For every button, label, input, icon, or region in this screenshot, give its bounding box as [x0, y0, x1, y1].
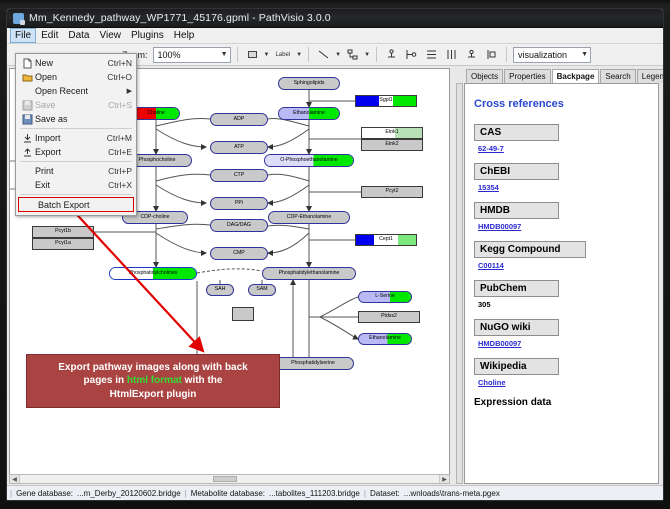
gene-cept1[interactable]: Cept1 [355, 234, 417, 246]
xref-link-hmdb[interactable]: HMDB00097 [478, 222, 521, 231]
stack-icon [486, 49, 497, 60]
stack-button[interactable] [483, 46, 500, 63]
save-as-icon [20, 114, 35, 125]
node-unlabeled-block[interactable] [232, 307, 254, 321]
xref-header-pubchem: PubChem [474, 280, 559, 297]
file-menu-import[interactable]: Import Ctrl+M [16, 131, 136, 145]
menu-help[interactable]: Help [169, 28, 200, 43]
scroll-left-icon[interactable]: ◀ [10, 475, 20, 483]
file-menu-exit-label: Exit [35, 180, 102, 190]
callout-line-2a: pages in [84, 375, 127, 386]
gene-etnk1[interactable]: Etnk1 [361, 127, 423, 139]
xref-header-chebi: ChEBI [474, 163, 559, 180]
expression-data-heading: Expression data [474, 397, 649, 408]
chevron-down-icon: ▼ [221, 51, 228, 58]
xref-value-chebi: 15354 [474, 183, 649, 192]
shape-caret-icon[interactable]: ▼ [264, 52, 270, 58]
node-sphingolipids[interactable]: Sphingolipids [278, 77, 340, 90]
file-menu-separator-2 [20, 161, 132, 162]
node-cmp[interactable]: CMP [210, 247, 268, 260]
node-ethanolamine-2[interactable]: Ethanolamine [358, 333, 412, 345]
export-icon [20, 147, 35, 158]
group-icon [466, 49, 477, 60]
xref-header-nugo: NuGO wiki [474, 319, 559, 336]
interaction-tool-button[interactable] [344, 46, 361, 63]
gene-pcyt1b[interactable]: Pcyt1b [32, 226, 94, 238]
status-divider-1: | [185, 489, 187, 498]
file-menu-open[interactable]: Open Ctrl+O [16, 70, 136, 84]
node-label: Ptdss2 [381, 314, 397, 319]
file-menu-export[interactable]: Export Ctrl+E [16, 145, 136, 159]
node-label: Pcyt1a [55, 241, 71, 246]
xref-link-wikipedia[interactable]: Choline [478, 378, 506, 387]
zoom-value: 100% [158, 50, 181, 60]
status-metabolite-db-value: ...tabolites_111203.bridge [269, 489, 360, 498]
node-label: SAM [256, 287, 267, 292]
gene-sgpl1[interactable]: Sgpl1 [355, 95, 417, 107]
submenu-arrow-icon: ▶ [127, 87, 132, 95]
callout-highlight: html format [127, 375, 182, 386]
file-menu-import-accel: Ctrl+M [107, 133, 132, 143]
import-icon [20, 133, 35, 144]
node-label: Ethanolamine [293, 111, 325, 116]
xref-value-cas: 62-49-7 [474, 144, 649, 153]
node-label: CTP [234, 173, 244, 178]
node-label: Cept1 [379, 237, 393, 242]
node-label: Phosphatidylcholines [129, 271, 178, 276]
node-cdp-ethanolamine[interactable]: CDP-Ethanolamine [268, 211, 350, 224]
folder-open-icon [20, 72, 35, 83]
align-left-icon [406, 49, 417, 60]
interaction-caret-icon[interactable]: ▼ [364, 52, 370, 58]
file-menu-export-accel: Ctrl+E [108, 147, 132, 157]
node-label: Phosphatidylserine [291, 361, 335, 366]
node-l-serine[interactable]: L-Serine [358, 291, 412, 303]
save-icon [20, 100, 35, 111]
callout-line-2b: with the [182, 375, 223, 386]
status-metabolite-db-label: Metabolite database: [191, 489, 265, 498]
xref-value-hmdb: HMDB00097 [474, 222, 649, 231]
node-label: Etnk2 [385, 142, 398, 147]
file-menu-separator-3 [20, 194, 132, 195]
menu-data[interactable]: Data [63, 28, 94, 43]
node-sah[interactable]: SAH [206, 284, 234, 296]
file-menu-new-accel: Ctrl+N [108, 58, 132, 68]
xref-link-cas[interactable]: 62-49-7 [478, 144, 504, 153]
file-menu-exit[interactable]: Exit Ctrl+X [16, 178, 136, 192]
new-file-icon [20, 58, 35, 69]
window-title: Mm_Kennedy_pathway_WP1771_45176.gpml - P… [29, 12, 331, 24]
application-window: Mm_Kennedy_pathway_WP1771_45176.gpml - P… [6, 8, 664, 501]
file-menu-new-label: New [35, 58, 102, 68]
status-divider-0: | [10, 489, 12, 498]
node-label: Pcyt1b [55, 229, 71, 234]
node-label: Ethanolamine [369, 336, 401, 341]
file-menu-open-recent-label: Open Recent [35, 86, 127, 96]
tab-backpage[interactable]: Backpage [552, 69, 600, 84]
file-menu-separator-1 [20, 128, 132, 129]
node-ethanolamine[interactable]: Ethanolamine [278, 107, 340, 120]
file-menu-print-label: Print [35, 166, 102, 176]
callout-line-3: HtmlExport plugin [110, 388, 197, 401]
node-label: Phosphocholine [139, 158, 176, 163]
xref-header-hmdb: HMDB [474, 202, 559, 219]
toolbar-separator-3 [376, 47, 377, 62]
file-menu-import-label: Import [35, 133, 101, 143]
file-menu-save: Save Ctrl+S [16, 98, 136, 112]
line-icon [318, 49, 329, 60]
line-tool-button[interactable] [315, 46, 332, 63]
xref-value-wikipedia: Choline [474, 378, 649, 387]
xref-link-kegg[interactable]: C00114 [478, 261, 504, 270]
node-ctp[interactable]: CTP [210, 169, 268, 182]
menu-bar: File Edit Data View Plugins Help [7, 28, 663, 44]
shape-tool-button[interactable] [244, 46, 261, 63]
node-sam[interactable]: SAM [248, 284, 276, 296]
visualization-value: visualization [518, 50, 567, 60]
xref-header-kegg: Kegg Compound [474, 241, 586, 258]
label-tool-button[interactable]: Label [272, 46, 293, 63]
scroll-thumb[interactable] [213, 476, 237, 482]
file-menu-batch-export[interactable]: Batch Export [18, 197, 134, 212]
gene-ptdss2[interactable]: Ptdss2 [358, 311, 420, 323]
visualization-combo[interactable]: visualization ▼ [513, 47, 591, 63]
toolbar-separator [237, 47, 238, 62]
file-menu-popup: New Ctrl+N Open Ctrl+O Open Recent ▶ Sav… [15, 53, 137, 216]
xref-link-nugo[interactable]: HMDB00097 [478, 339, 521, 348]
node-label: CDP-Ethanolamine [287, 215, 331, 220]
label-caret-icon[interactable]: ▼ [296, 52, 302, 58]
annotation-callout: Export pathway images along with back pa… [26, 354, 280, 408]
toolbar-separator-2 [308, 47, 309, 62]
node-label: PPi [235, 201, 243, 206]
group-button[interactable] [463, 46, 480, 63]
gene-etnk2[interactable]: Etnk2 [361, 139, 423, 151]
status-divider-2: | [364, 489, 366, 498]
menu-plugins[interactable]: Plugins [126, 28, 169, 43]
node-label: ATP [234, 145, 244, 150]
node-label: Choline [147, 111, 165, 116]
tab-legend[interactable]: Legend [637, 69, 664, 83]
node-o-phosphoethanolamine[interactable]: O-Phosphoethanolamine [264, 154, 354, 167]
align-center-button[interactable] [423, 46, 440, 63]
node-label: SAH [215, 287, 226, 292]
xref-value-pubchem: 305 [474, 300, 649, 309]
chevron-down-icon-2: ▼ [581, 51, 588, 58]
node-adp[interactable]: ADP [210, 113, 268, 126]
toolbar-separator-4 [506, 47, 507, 62]
zoom-combo[interactable]: 100% ▼ [153, 47, 231, 63]
node-phosphatidylethanolamine[interactable]: Phosphatidylethanolamine [262, 267, 356, 280]
title-bar: Mm_Kennedy_pathway_WP1771_45176.gpml - P… [7, 9, 663, 28]
node-phosphatidylserine[interactable]: Phosphatidylserine [272, 357, 354, 370]
anchor-tool-button[interactable] [383, 46, 400, 63]
distribute-icon [446, 49, 457, 60]
node-label: CDP-choline [140, 215, 169, 220]
align-center-icon [426, 49, 437, 60]
node-atp[interactable]: ATP [210, 141, 268, 154]
menu-file[interactable]: File [10, 28, 36, 43]
cross-references-heading: Cross references [474, 98, 649, 110]
scroll-track[interactable] [20, 475, 439, 483]
side-panel: Objects Properties Backpage Search Legen… [454, 66, 663, 500]
callout-line-2: pages in html format with the [84, 374, 223, 387]
pathvisio-icon [13, 13, 24, 24]
panel-collapse-rail[interactable] [456, 83, 463, 484]
status-dataset-value: ...wnloads\trans-meta.pgex [404, 489, 500, 498]
xref-link-chebi[interactable]: 15354 [478, 183, 499, 192]
status-gene-db-label: Gene database: [16, 489, 73, 498]
node-label: L-Serine [375, 294, 395, 299]
xref-value-kegg: C00114 [474, 261, 649, 270]
distribute-button[interactable] [443, 46, 460, 63]
file-menu-save-label: Save [35, 100, 102, 110]
file-menu-print-accel: Ctrl+P [108, 166, 132, 176]
xref-header-wikipedia: Wikipedia [474, 358, 559, 375]
anchor-icon [386, 49, 397, 60]
menu-edit[interactable]: Edit [36, 28, 63, 43]
node-label: O-Phosphoethanolamine [280, 158, 337, 163]
node-dag[interactable]: DAG/DAG [210, 219, 268, 232]
align-left-button[interactable] [403, 46, 420, 63]
backpage-content: Cross references CAS 62-49-7 ChEBI 15354… [464, 83, 659, 484]
xref-header-cas: CAS [474, 124, 559, 141]
file-menu-print[interactable]: Print Ctrl+P [16, 164, 136, 178]
node-label: Sphingolipids [294, 81, 325, 86]
tab-search[interactable]: Search [600, 69, 635, 83]
gene-pcyt2[interactable]: Pcyt2 [361, 186, 423, 198]
node-label: Etnk1 [385, 130, 398, 135]
desktop-background: Mm_Kennedy_pathway_WP1771_45176.gpml - P… [0, 0, 670, 509]
node-label: ADP [234, 117, 245, 122]
callout-line-1: Export pathway images along with back [58, 361, 248, 374]
node-phosphatidylcholines[interactable]: Phosphatidylcholines [109, 267, 197, 280]
file-menu-open-label: Open [35, 72, 101, 82]
side-panel-tabs: Objects Properties Backpage Search Legen… [454, 69, 661, 83]
xref-value-nugo: HMDB00097 [474, 339, 649, 348]
file-menu-save-as-label: Save as [35, 114, 126, 124]
status-dataset-label: Dataset: [370, 489, 400, 498]
file-menu-save-as[interactable]: Save as [16, 112, 136, 126]
node-label: CMP [233, 251, 245, 256]
file-menu-export-label: Export [35, 147, 102, 157]
file-menu-open-accel: Ctrl+O [107, 72, 132, 82]
gene-pcyt1a[interactable]: Pcyt1a [32, 238, 94, 250]
file-menu-new[interactable]: New Ctrl+N [16, 56, 136, 70]
node-choline[interactable]: Choline [132, 107, 180, 120]
file-menu-open-recent[interactable]: Open Recent ▶ [16, 84, 136, 98]
tab-objects[interactable]: Objects [466, 69, 503, 83]
file-menu-exit-accel: Ctrl+X [108, 180, 132, 190]
node-label: Phosphatidylethanolamine [279, 271, 340, 276]
status-gene-db-value: ...m_Derby_20120602.bridge [77, 489, 181, 498]
node-label: Sgpl1 [379, 98, 392, 103]
canvas-horizontal-scrollbar[interactable]: ◀ ▶ [9, 474, 450, 484]
status-bar: | Gene database: ...m_Derby_20120602.bri… [7, 485, 663, 500]
menu-view[interactable]: View [94, 28, 126, 43]
interaction-icon [347, 49, 358, 60]
file-menu-batch-export-label: Batch Export [38, 200, 129, 210]
line-caret-icon[interactable]: ▼ [335, 52, 341, 58]
tab-properties[interactable]: Properties [504, 69, 550, 83]
node-label: DAG/DAG [227, 223, 251, 228]
scroll-right-icon[interactable]: ▶ [439, 475, 449, 483]
node-label: Pcyt2 [386, 189, 399, 194]
node-ppi[interactable]: PPi [210, 197, 268, 210]
file-menu-save-accel: Ctrl+S [108, 100, 132, 110]
shape-icon [247, 49, 258, 60]
